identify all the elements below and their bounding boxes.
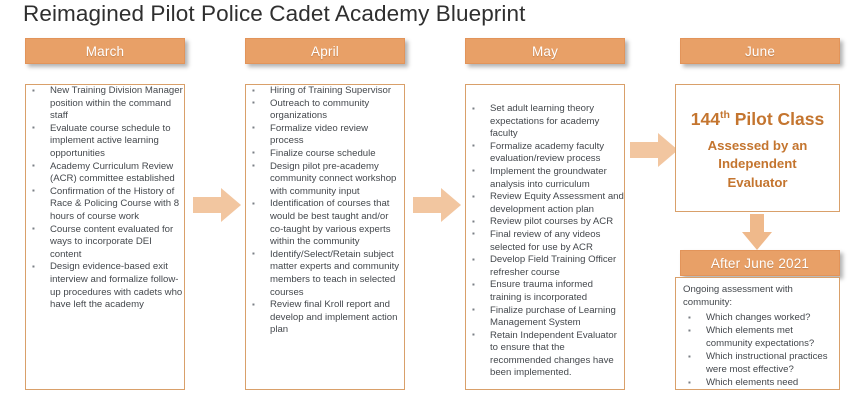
column-box-after-june: Ongoing assessment with community: Which… — [675, 277, 840, 390]
month-header-april[interactable]: April — [245, 38, 405, 64]
list-item: Which instructional practices were most … — [682, 350, 831, 376]
list-item: New Training Division Manager position w… — [26, 85, 184, 123]
list-item: Outreach to community organizations — [246, 98, 404, 123]
june-subline-line2: Independent — [708, 155, 808, 174]
list-item: Develop Field Training Officer refresher… — [466, 254, 624, 279]
april-bullet-list: Hiring of Training Supervisor Outreach t… — [246, 85, 404, 337]
list-item: Design evidence-based exit interview and… — [26, 261, 184, 311]
list-item: Final review of any videos selected for … — [466, 229, 624, 254]
june-headline-number: 144 — [691, 109, 720, 129]
arrow-shaft — [630, 142, 660, 158]
month-header-after-june[interactable]: After June 2021 — [680, 250, 840, 276]
column-box-april: Hiring of Training Supervisor Outreach t… — [245, 84, 405, 390]
month-header-may[interactable]: May — [465, 38, 625, 64]
arrow-shaft — [413, 197, 443, 213]
page-title: Reimagined Pilot Police Cadet Academy Bl… — [23, 1, 525, 27]
arrow-down-icon-june-to-after-june — [742, 214, 772, 250]
march-bullet-list: New Training Division Manager position w… — [26, 85, 184, 312]
arrow-head — [441, 188, 461, 222]
list-item: Hiring of Training Supervisor — [246, 85, 404, 98]
after-june-bullet-list: Which changes worked? Which elements met… — [676, 311, 839, 390]
june-subline-line1: Assessed by an — [708, 137, 808, 156]
arrow-head — [221, 188, 241, 222]
list-item: Finalize course schedule — [246, 148, 404, 161]
month-header-after-june-label: After June 2021 — [711, 256, 809, 271]
list-item: Review final Kroll report and develop an… — [246, 299, 404, 337]
list-item: Finalize purchase of Learning Management… — [466, 305, 624, 330]
list-item: Which changes worked? — [682, 311, 831, 324]
month-header-march-label: March — [86, 44, 125, 59]
list-item: Implement the groundwater analysis into … — [466, 166, 624, 191]
month-header-june[interactable]: June — [680, 38, 840, 64]
june-subline: Assessed by an Independent Evaluator — [708, 137, 808, 193]
list-item: Identify/Select/Retain subject matter ex… — [246, 249, 404, 299]
month-header-may-label: May — [532, 44, 558, 59]
list-item: Design pilot pre-academy community conne… — [246, 161, 404, 199]
arrow-right-icon-may-to-june — [630, 133, 678, 167]
list-item: Set adult learning theory expectations f… — [466, 103, 624, 141]
june-headline-suffix: th — [720, 109, 730, 121]
column-box-march: New Training Division Manager position w… — [25, 84, 185, 390]
arrow-head — [742, 232, 772, 250]
list-item: Review pilot courses by ACR — [466, 216, 624, 229]
june-subline-line3: Evaluator — [708, 174, 808, 193]
june-headline-rest: Pilot Class — [730, 109, 824, 129]
list-item: Formalize video review process — [246, 123, 404, 148]
after-june-intro: Ongoing assessment with community: — [676, 278, 839, 311]
month-header-april-label: April — [311, 44, 339, 59]
arrow-shaft — [193, 197, 223, 213]
list-item: Which elements need additional revision? — [682, 376, 831, 390]
list-item: Course content evaluated for ways to inc… — [26, 224, 184, 262]
arrow-right-icon-march-to-april — [193, 188, 241, 222]
arrow-right-icon-april-to-may — [413, 188, 461, 222]
list-item: Review Equity Assessment and development… — [466, 191, 624, 216]
list-item: Which elements met community expectation… — [682, 324, 831, 350]
list-item: Academy Curriculum Review (ACR) committe… — [26, 161, 184, 186]
arrow-shaft — [750, 214, 764, 234]
column-box-may: Set adult learning theory expectations f… — [465, 84, 625, 390]
list-item: Retain Independent Evaluator to ensure t… — [466, 330, 624, 380]
list-item: Identification of courses that would be … — [246, 198, 404, 248]
list-item: Formalize academy faculty evaluation/rev… — [466, 141, 624, 166]
list-item: Evaluate course schedule to implement ac… — [26, 123, 184, 161]
list-item: Confirmation of the History of Race & Po… — [26, 186, 184, 224]
list-item: Ensure trauma informed training is incor… — [466, 279, 624, 304]
month-header-march[interactable]: March — [25, 38, 185, 64]
month-header-june-label: June — [745, 44, 775, 59]
may-bullet-list: Set adult learning theory expectations f… — [466, 85, 624, 380]
june-headline: 144th Pilot Class — [691, 104, 824, 130]
column-box-june: 144th Pilot Class Assessed by an Indepen… — [675, 84, 840, 212]
